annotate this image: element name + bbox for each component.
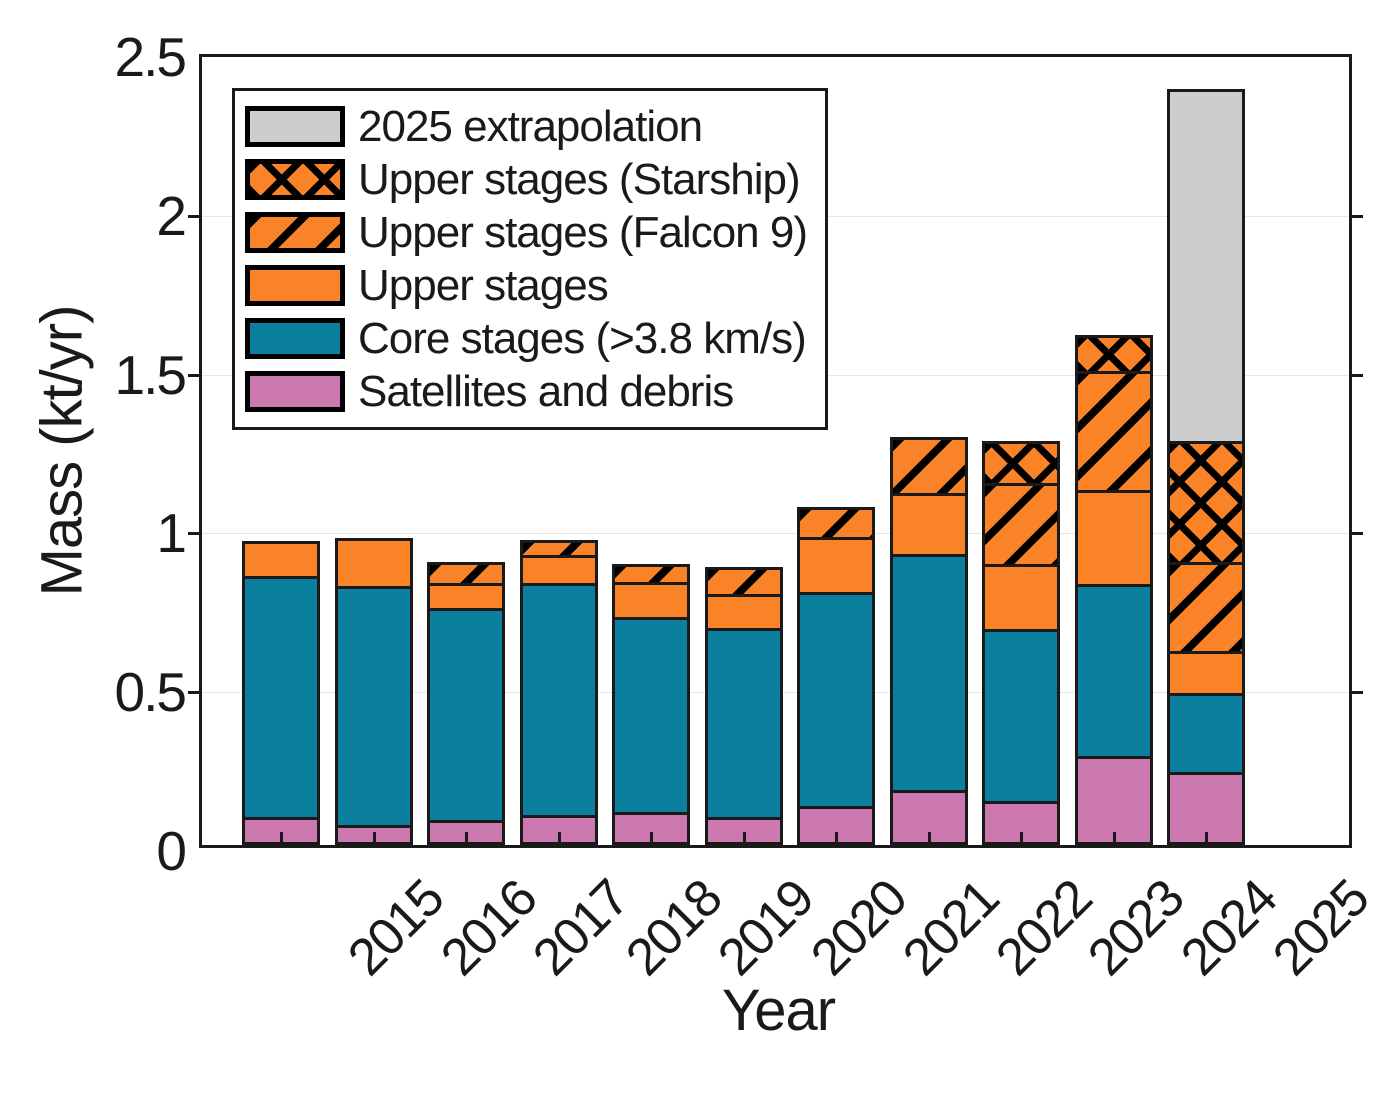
legend-swatch-upper_stages bbox=[245, 265, 345, 306]
bar-segment-upper_stages[interactable] bbox=[335, 538, 413, 589]
bar-segment-core_stages[interactable] bbox=[1075, 584, 1153, 759]
x-axis-tick bbox=[835, 832, 838, 846]
bar-segment-core_stages[interactable] bbox=[427, 608, 505, 823]
bar-segment-upper_stages_starship[interactable] bbox=[1075, 335, 1153, 374]
x-axis-tick bbox=[928, 832, 931, 846]
x-axis-tick-label: 2025 bbox=[1262, 869, 1381, 988]
bar-segment-upper_stages_falcon9[interactable] bbox=[890, 437, 968, 496]
legend-swatch-extrapolation_2025 bbox=[245, 106, 345, 147]
bar-segment-upper_stages[interactable] bbox=[705, 594, 783, 631]
legend-swatch-upper_stages_starship bbox=[245, 159, 345, 200]
x-axis-title: Year bbox=[202, 977, 1355, 1044]
legend-label: Upper stages bbox=[358, 264, 608, 308]
bar-segment-upper_stages_falcon9[interactable] bbox=[612, 564, 690, 585]
bar-stack[interactable] bbox=[1075, 51, 1153, 845]
legend-swatch-satellites bbox=[245, 371, 345, 412]
bar-segment-upper_stages_falcon9[interactable] bbox=[705, 567, 783, 597]
x-axis-tick-label: 2016 bbox=[429, 869, 548, 988]
bar-segment-upper_stages_falcon9[interactable] bbox=[1075, 371, 1153, 493]
y-axis-tick-label: 0 bbox=[10, 819, 185, 883]
bar-segment-upper_stages_falcon9[interactable] bbox=[1167, 562, 1245, 655]
x-axis-tick-label: 2018 bbox=[614, 869, 733, 988]
bar-segment-upper_stages[interactable] bbox=[520, 555, 598, 586]
bar-segment-upper_stages_falcon9[interactable] bbox=[427, 562, 505, 586]
x-axis-tick bbox=[1020, 832, 1023, 846]
y-axis-tick bbox=[188, 532, 202, 535]
legend-item-upper_stages_starship[interactable]: Upper stages (Starship) bbox=[245, 153, 815, 206]
bar-segment-upper_stages[interactable] bbox=[242, 541, 320, 579]
x-axis-tick-label: 2019 bbox=[707, 869, 826, 988]
y-axis-title: Mass (kt/yr) bbox=[29, 306, 96, 597]
y-axis-tick bbox=[188, 374, 202, 377]
bar-segment-upper_stages[interactable] bbox=[1075, 490, 1153, 587]
bar-stack[interactable] bbox=[982, 51, 1060, 845]
x-axis-tick bbox=[1113, 832, 1116, 846]
plot-area: 00.511.522.5 201520162017201820192020202… bbox=[199, 54, 1352, 848]
legend-item-upper_stages_falcon9[interactable]: Upper stages (Falcon 9) bbox=[245, 206, 815, 259]
legend-swatch-upper_stages_falcon9 bbox=[245, 212, 345, 253]
bar-segment-core_stages[interactable] bbox=[520, 583, 598, 818]
x-axis-tick-label: 2021 bbox=[892, 869, 1011, 988]
y-axis-tick-label: 2.5 bbox=[10, 25, 185, 89]
y-axis-tick-right bbox=[1349, 215, 1363, 218]
bar-segment-upper_stages_falcon9[interactable] bbox=[982, 483, 1060, 567]
x-axis-tick bbox=[650, 832, 653, 846]
chart-figure: 00.511.522.5 201520162017201820192020202… bbox=[0, 0, 1400, 1105]
y-axis-tick-right bbox=[1349, 691, 1363, 694]
bar-segment-upper_stages[interactable] bbox=[797, 537, 875, 595]
x-axis-tick-label: 2024 bbox=[1169, 869, 1288, 988]
bar-segment-upper_stages[interactable] bbox=[612, 582, 690, 620]
bar-segment-extrapolation_2025[interactable] bbox=[1167, 89, 1245, 443]
y-axis-tick bbox=[188, 215, 202, 218]
bar-segment-core_stages[interactable] bbox=[705, 628, 783, 820]
bar-segment-upper_stages_starship[interactable] bbox=[1167, 441, 1245, 565]
x-axis-tick-label: 2017 bbox=[522, 869, 641, 988]
x-axis-tick-label: 2022 bbox=[984, 869, 1103, 988]
bar-segment-upper_stages[interactable] bbox=[427, 583, 505, 611]
x-axis-tick-label: 2020 bbox=[799, 869, 918, 988]
x-axis-tick-label: 2015 bbox=[337, 869, 456, 988]
y-axis-tick-label: 0.5 bbox=[10, 660, 185, 724]
x-axis-tick bbox=[558, 832, 561, 846]
bar-segment-core_stages[interactable] bbox=[242, 576, 320, 820]
bar-segment-upper_stages_falcon9[interactable] bbox=[520, 540, 598, 558]
bar-segment-core_stages[interactable] bbox=[335, 586, 413, 828]
bar-stack[interactable] bbox=[1167, 51, 1245, 845]
bar-segment-upper_stages_starship[interactable] bbox=[982, 441, 1060, 486]
legend-label: Core stages (>3.8 km/s) bbox=[358, 317, 806, 361]
bar-segment-upper_stages[interactable] bbox=[1167, 651, 1245, 696]
legend-item-upper_stages[interactable]: Upper stages bbox=[245, 259, 815, 312]
legend-label: Upper stages (Falcon 9) bbox=[358, 211, 807, 255]
legend-swatch-core_stages bbox=[245, 318, 345, 359]
y-axis-tick-right bbox=[1349, 374, 1363, 377]
legend-item-core_stages[interactable]: Core stages (>3.8 km/s) bbox=[245, 312, 815, 365]
legend-item-satellites[interactable]: Satellites and debris bbox=[245, 365, 815, 418]
bar-segment-upper_stages_falcon9[interactable] bbox=[797, 507, 875, 540]
bar-segment-core_stages[interactable] bbox=[797, 592, 875, 809]
bar-segment-core_stages[interactable] bbox=[982, 629, 1060, 804]
chart-legend: 2025 extrapolationUpper stages (Starship… bbox=[232, 88, 828, 430]
x-axis-tick bbox=[465, 832, 468, 846]
x-axis-tick bbox=[373, 832, 376, 846]
x-axis-tick bbox=[743, 832, 746, 846]
legend-item-extrapolation_2025[interactable]: 2025 extrapolation bbox=[245, 100, 815, 153]
bar-segment-upper_stages[interactable] bbox=[982, 564, 1060, 632]
y-axis-tick bbox=[188, 691, 202, 694]
bar-segment-core_stages[interactable] bbox=[890, 554, 968, 793]
bar-segment-upper_stages[interactable] bbox=[890, 493, 968, 557]
x-axis-tick-label: 2023 bbox=[1077, 869, 1196, 988]
y-axis-tick-label: 2 bbox=[10, 184, 185, 248]
bar-segment-core_stages[interactable] bbox=[1167, 693, 1245, 774]
bar-segment-core_stages[interactable] bbox=[612, 617, 690, 815]
legend-label: Satellites and debris bbox=[358, 370, 733, 414]
x-axis-tick bbox=[1205, 832, 1208, 846]
legend-label: Upper stages (Starship) bbox=[358, 158, 800, 202]
y-axis-tick-right bbox=[1349, 532, 1363, 535]
bar-stack[interactable] bbox=[890, 51, 968, 845]
x-axis-tick bbox=[280, 832, 283, 846]
legend-label: 2025 extrapolation bbox=[358, 105, 702, 149]
